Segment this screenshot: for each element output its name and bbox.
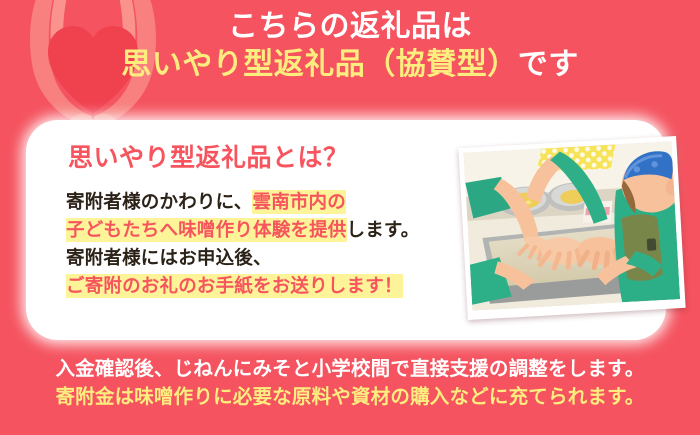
header-line-2-highlight: 思いやり型返礼品（協賛型） bbox=[121, 48, 518, 81]
header-line-2-suffix: です bbox=[518, 48, 579, 81]
card-body-line-1: 寄附者様のかわりに、雲南市内の bbox=[66, 188, 476, 216]
promotional-banner: こちらの返礼品は 思いやり型返礼品（協賛型）です 思いやり型返礼品とは？ 寄附者… bbox=[0, 0, 700, 435]
card-body-line-1-plain: 寄附者様のかわりに、 bbox=[66, 191, 252, 212]
card-body: 寄附者様のかわりに、雲南市内の 子どもたちへ味噌作り体験を提供します。 寄附者様… bbox=[66, 188, 476, 300]
card-body-line-4-mark: ご寄附のお礼のお手紙をお送りします！ bbox=[66, 274, 403, 298]
card-body-line-3-plain: 寄附者様にはお申込後、 bbox=[66, 247, 272, 268]
card-body-line-3: 寄附者様にはお申込後、 bbox=[66, 244, 476, 272]
card-title: 思いやり型返礼品とは？ bbox=[68, 138, 349, 174]
card-body-line-4: ご寄附のお礼のお手紙をお送りします！ bbox=[66, 272, 476, 300]
card-body-line-2: 子どもたちへ味噌作り体験を提供します。 bbox=[66, 216, 476, 244]
footer-line-2: 寄附金は味噌作りに必要な原料や資材の購入などに充てられます。 bbox=[0, 384, 700, 412]
banner-header: こちらの返礼品は 思いやり型返礼品（協賛型）です bbox=[0, 8, 700, 84]
header-line-1: こちらの返礼品は bbox=[0, 8, 700, 46]
footer-line-1: 入金確認後、じねんにみそと小学校間で直接支援の調整をします。 bbox=[0, 356, 700, 384]
card-body-line-2-plain: します。 bbox=[347, 219, 420, 240]
banner-footer: 入金確認後、じねんにみそと小学校間で直接支援の調整をします。 寄附金は味噌作りに… bbox=[0, 356, 700, 411]
card-body-line-1-mark: 雲南市内の bbox=[252, 190, 346, 214]
miso-workshop-photo bbox=[458, 136, 685, 320]
photo-image bbox=[464, 141, 680, 310]
card-body-line-2-mark: 子どもたちへ味噌作り体験を提供 bbox=[66, 218, 347, 242]
header-line-2: 思いやり型返礼品（協賛型）です bbox=[0, 46, 700, 84]
